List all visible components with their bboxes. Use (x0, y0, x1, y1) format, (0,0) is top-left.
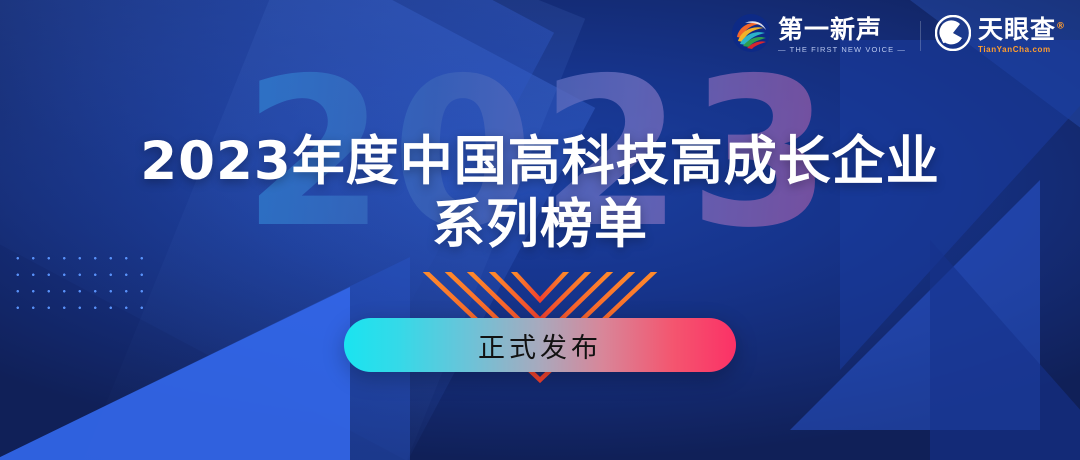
page-title: 2023年度中国高科技高成长企业 系列榜单 (0, 131, 1080, 256)
triangle-bottom-right (930, 240, 1080, 460)
poster-banner: 2023 2023年度中国高科技高成长企业 系列榜单 (0, 0, 1080, 460)
tianyancha-logo-icon (935, 15, 971, 56)
tianyancha-cn-name-text: 天眼查 (978, 15, 1056, 44)
registered-trademark-icon: ® (1056, 22, 1066, 32)
first-new-voice-cn-name: 第一新声 (778, 17, 906, 42)
logo-divider (920, 21, 921, 51)
headline-line-1: 2023年度中国高科技高成长企业 (140, 131, 940, 192)
logo-first-new-voice[interactable]: 第一新声 — THE FIRST NEW VOICE — (731, 13, 906, 58)
tianyancha-tagline: TianYanCha.com (978, 46, 1066, 54)
logo-bar: 第一新声 — THE FIRST NEW VOICE — 天眼查® TianYa… (731, 13, 1066, 58)
tianyancha-wordmark: 天眼查® TianYanCha.com (978, 17, 1066, 54)
headline-line-2: 系列榜单 (0, 194, 1080, 255)
tianyancha-cn-name: 天眼查® (978, 17, 1066, 42)
status-badge: 正式发布 (344, 318, 736, 372)
first-new-voice-logo-icon (731, 13, 771, 58)
status-badge-label: 正式发布 (478, 326, 602, 365)
first-new-voice-wordmark: 第一新声 — THE FIRST NEW VOICE — (778, 17, 906, 54)
dot-grid-pattern (8, 248, 151, 314)
logo-tianyancha[interactable]: 天眼查® TianYanCha.com (935, 15, 1066, 56)
first-new-voice-tagline: — THE FIRST NEW VOICE — (778, 46, 906, 54)
